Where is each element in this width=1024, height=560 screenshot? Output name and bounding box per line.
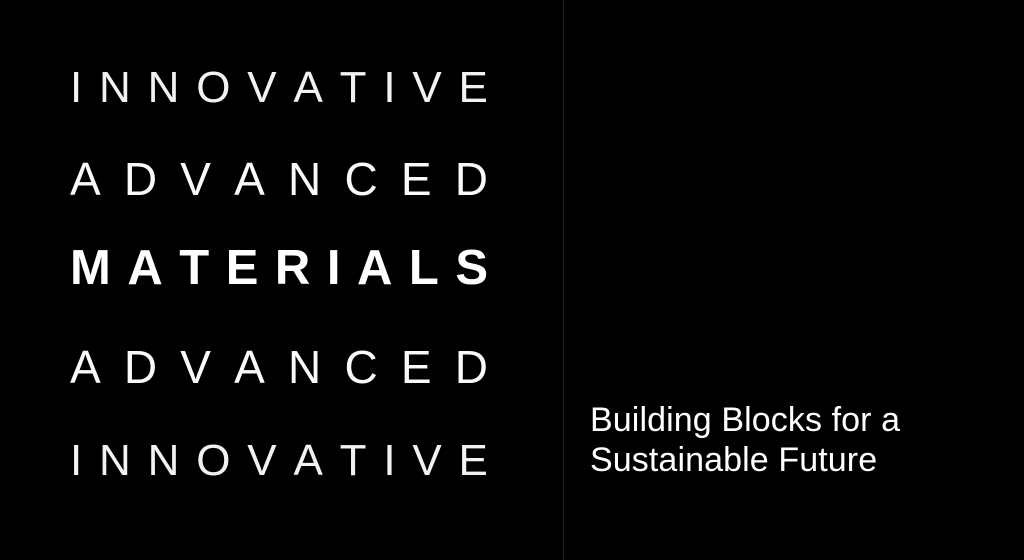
- tower-letter: D: [455, 344, 488, 390]
- tower-letter: L: [409, 244, 439, 293]
- tower-letter: S: [455, 244, 488, 293]
- tower-letter: I: [383, 439, 395, 483]
- tower-letter: A: [70, 156, 101, 202]
- tagline: Building Blocks for a Sustainable Future: [590, 401, 990, 481]
- tower-letter: I: [70, 66, 82, 110]
- word-tower-panel: INNOVATIVE ADVANCED MATERIALS ADVANCED I…: [0, 0, 563, 560]
- tower-letter: N: [288, 156, 321, 202]
- word-tower-line-innovative-top: INNOVATIVE: [70, 66, 488, 110]
- tower-letter: N: [148, 66, 180, 110]
- tagline-line-1: Building Blocks for a: [590, 401, 990, 441]
- tower-letter: N: [99, 439, 131, 483]
- tower-letter: I: [383, 66, 395, 110]
- tower-letter: A: [127, 244, 162, 293]
- word-tower-line-innovative-bottom: INNOVATIVE: [70, 439, 488, 483]
- tower-letter: R: [275, 244, 310, 293]
- tower-letter: D: [455, 156, 488, 202]
- tower-letter: V: [247, 66, 276, 110]
- tower-letter: N: [148, 439, 180, 483]
- tower-letter: A: [293, 439, 322, 483]
- tagline-line-2: Sustainable Future: [590, 441, 990, 481]
- tower-letter: A: [234, 156, 265, 202]
- tower-letter: D: [124, 344, 157, 390]
- slide-canvas: INNOVATIVE ADVANCED MATERIALS ADVANCED I…: [0, 0, 1024, 560]
- tower-letter: C: [344, 344, 377, 390]
- tower-letter: V: [180, 344, 211, 390]
- tower-letter: C: [344, 156, 377, 202]
- tower-letter: V: [412, 66, 441, 110]
- tower-letter: A: [234, 344, 265, 390]
- tower-letter: V: [180, 156, 211, 202]
- tower-letter: E: [401, 156, 432, 202]
- tower-letter: A: [293, 66, 322, 110]
- tower-letter: I: [70, 439, 82, 483]
- tower-letter: E: [459, 439, 488, 483]
- tower-letter: I: [327, 244, 341, 293]
- tower-letter: N: [99, 66, 131, 110]
- tower-letter: E: [459, 66, 488, 110]
- word-tower-line-advanced-lower: ADVANCED: [70, 344, 488, 390]
- word-tower-line-materials: MATERIALS: [70, 244, 488, 293]
- word-tower-line-advanced-upper: ADVANCED: [70, 156, 488, 202]
- tower-letter: A: [357, 244, 392, 293]
- tower-letter: T: [179, 244, 209, 293]
- tower-letter: V: [412, 439, 441, 483]
- tower-letter: E: [226, 244, 259, 293]
- tower-letter: M: [70, 244, 111, 293]
- tower-letter: T: [340, 66, 367, 110]
- tower-letter: T: [340, 439, 367, 483]
- tower-letter: E: [401, 344, 432, 390]
- tower-letter: A: [70, 344, 101, 390]
- tower-letter: V: [247, 439, 276, 483]
- tower-letter: O: [196, 66, 230, 110]
- tower-letter: O: [196, 439, 230, 483]
- tower-letter: N: [288, 344, 321, 390]
- tower-letter: D: [124, 156, 157, 202]
- tagline-panel: Building Blocks for a Sustainable Future: [563, 0, 1024, 560]
